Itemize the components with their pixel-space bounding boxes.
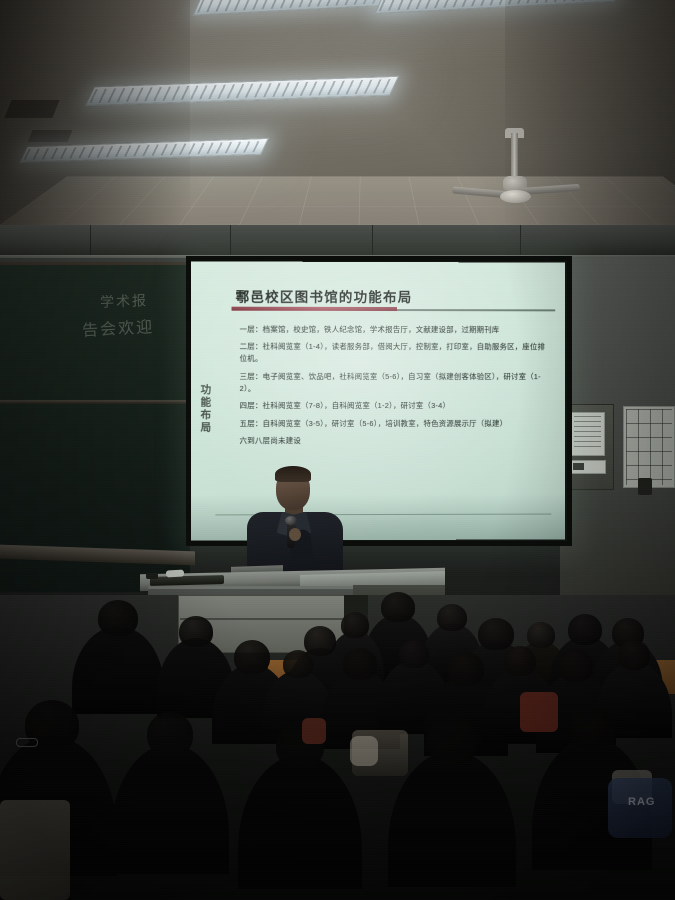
slide-vertical-label: 功能布局 <box>198 384 213 434</box>
podium-edge <box>148 586 353 589</box>
podium-object-2 <box>146 573 158 579</box>
audience-head <box>478 618 514 650</box>
slide-line-floor-3: 三层：电子阅览室、饮品吧，社科阅览室（5-6），自习室（拟建创客体验区），研讨室… <box>240 371 550 395</box>
beam-seam <box>520 225 521 259</box>
ceiling-shadow-left <box>0 0 190 232</box>
slide-line-floor-1: 一层：档案馆，校史馆，铁人纪念馆，学术报告厅，文献建设部，过期期刊库 <box>240 324 550 336</box>
audience-head <box>568 614 602 645</box>
audience-head <box>399 640 429 668</box>
fan-rod <box>511 133 518 179</box>
audience-head <box>448 652 484 686</box>
audience-white-scarf <box>350 736 378 766</box>
chalkboard <box>0 262 190 592</box>
slide-body-list: 一层：档案馆，校史馆，铁人纪念馆，学术报告厅，文献建设部，过期期刊库 二层：社科… <box>240 324 550 448</box>
audience-head <box>283 650 313 678</box>
presenter-hand <box>289 528 301 541</box>
title-accent-bar <box>232 307 397 311</box>
wall-outlet-box <box>638 478 652 495</box>
slide-line-floor-2: 二层：社科阅览室（1-4），读者服务部，借阅大厅，控制室，打印室，自助服务区，座… <box>240 341 550 365</box>
audience-head <box>341 612 369 638</box>
ceiling <box>0 0 675 232</box>
slide-line-floor-5: 五层：自科阅览室（3-5），研讨室（5-6），培训教室，特色资源展示厅（拟建） <box>240 418 550 430</box>
audience-red-jacket <box>302 718 326 744</box>
audience-head <box>437 604 467 631</box>
slide-line-floor-6to8: 六到八层尚未建设 <box>240 435 550 447</box>
audience-head <box>559 650 593 682</box>
audience-head <box>527 622 555 648</box>
audience-head <box>618 640 650 670</box>
audience-head <box>304 626 336 656</box>
lecture-hall-photo: 学术报 告会欢迎 鄠邑校区图书馆的功能布局 功能布局 一层：档案馆，校史馆，铁人… <box>0 0 675 900</box>
podium-object <box>166 570 184 578</box>
audience-head <box>179 616 213 647</box>
audience-head <box>147 712 193 756</box>
fan-hub <box>500 190 531 203</box>
audience-head <box>381 592 415 622</box>
chalk-writing: 学术报 <box>100 290 149 312</box>
audience-head <box>343 648 377 680</box>
presenter-hair <box>275 466 311 482</box>
audience-head <box>234 640 270 674</box>
audience-navy-jacket <box>608 778 672 838</box>
audience-head <box>98 600 138 636</box>
notice-text-lines <box>574 416 601 450</box>
audience-light-sweater <box>0 800 70 900</box>
beam-seam <box>90 225 91 259</box>
audience-jacket-text: RAG <box>628 796 655 808</box>
chalk-writing: 告会欢迎 <box>81 313 154 341</box>
beam-seam <box>230 225 231 259</box>
light-switch-icon[interactable] <box>573 463 584 470</box>
slide-line-floor-4: 四层：社科阅览室（7-8），自科阅览室（1-2），研讨室（3-4） <box>240 400 550 412</box>
chalkboard-rail <box>0 400 190 404</box>
microphone-head-icon <box>285 516 297 525</box>
slide-title: 鄠邑校区图书馆的功能布局 <box>236 286 550 307</box>
wall-schedule-grid <box>623 406 675 488</box>
audience-red-jacket <box>520 692 558 732</box>
audience-head <box>427 716 477 764</box>
audience-head <box>504 646 536 676</box>
beam-seam <box>372 225 373 259</box>
audience-glasses-icon <box>16 738 38 747</box>
audience-head <box>569 706 615 750</box>
